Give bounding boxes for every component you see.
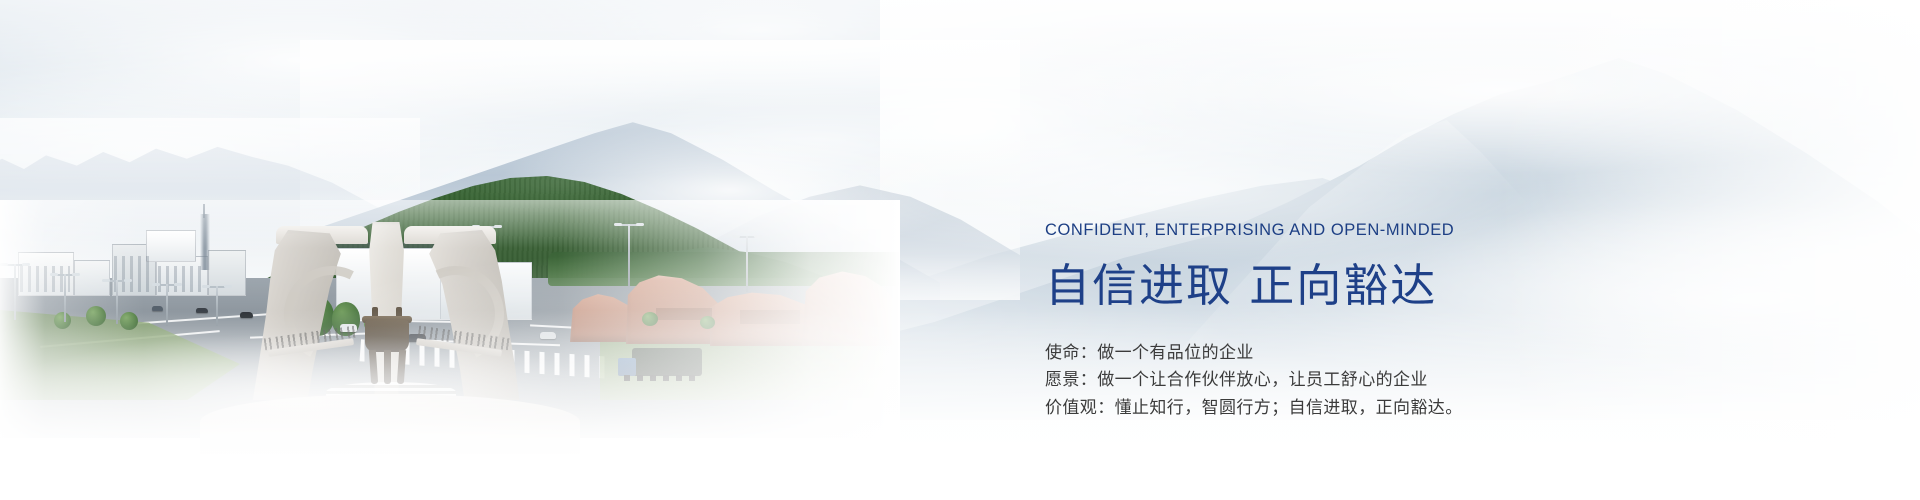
lamp-post xyxy=(64,274,66,322)
shrub xyxy=(642,312,658,326)
building-windows xyxy=(158,266,204,292)
lamp-head xyxy=(224,285,232,288)
lamp-head xyxy=(102,279,110,282)
hero-banner: CONFIDENT, ENTERPRISING AND OPEN-MINDED … xyxy=(0,0,1920,500)
vehicle xyxy=(540,332,556,339)
ding-leg xyxy=(397,350,406,384)
rock-formation xyxy=(802,270,898,346)
ding-leg xyxy=(369,350,378,384)
shrub xyxy=(120,312,138,330)
lamp-head xyxy=(50,273,58,276)
shrub xyxy=(54,312,71,329)
statement-values: 价值观：懂止知行，智圆行方；自信进取，正向豁达。 xyxy=(1045,395,1805,423)
truck-wheels xyxy=(624,375,698,381)
shrub xyxy=(700,316,715,329)
lamp-head xyxy=(202,285,210,288)
vehicle xyxy=(152,306,163,311)
city-building xyxy=(74,260,110,296)
bronze-ding-vessel xyxy=(362,312,412,390)
stone-arch-monument xyxy=(240,222,530,422)
truck-cab xyxy=(618,358,636,376)
lamp-head xyxy=(72,273,80,276)
monument-plaza-base xyxy=(200,394,580,454)
statement-vision: 愿景：做一个让合作伙伴放心，让员工舒心的企业 xyxy=(1045,367,1805,395)
shrub xyxy=(86,306,106,326)
truck-cargo-body xyxy=(632,348,702,376)
lamp-head xyxy=(124,279,132,282)
banner-headline: 自信进取 正向豁达 xyxy=(1045,259,1805,312)
lamp-head xyxy=(614,223,622,226)
building-windows xyxy=(20,266,70,292)
lamp-head xyxy=(754,235,762,238)
transmission-tower xyxy=(200,214,210,270)
lamp-head xyxy=(636,223,644,226)
ding-bowl xyxy=(365,320,409,352)
lamp-post xyxy=(166,284,168,326)
lamp-head xyxy=(174,283,182,286)
vehicle xyxy=(196,308,208,313)
banner-statements: 使命：做一个有品位的企业 愿景：做一个让合作伙伴放心，让员工舒心的企业 价值观：… xyxy=(1045,340,1805,423)
city-photograph xyxy=(0,200,900,500)
banner-text-block: CONFIDENT, ENTERPRISING AND OPEN-MINDED … xyxy=(1045,222,1805,423)
building-windows xyxy=(114,256,152,292)
lamp-post xyxy=(14,264,16,320)
lamp-post xyxy=(628,224,630,286)
ding-leg xyxy=(384,350,391,384)
statement-mission: 使命：做一个有品位的企业 xyxy=(1045,340,1805,368)
city-building xyxy=(146,230,196,262)
rock-shadow xyxy=(740,310,800,324)
lamp-head xyxy=(0,263,8,266)
lamp-post xyxy=(746,236,748,292)
lamp-head xyxy=(732,235,740,238)
lamp-head xyxy=(152,283,160,286)
lamp-post xyxy=(116,280,118,324)
lamp-post xyxy=(216,286,218,326)
terracotta-rock-garden xyxy=(560,260,900,350)
banner-eyebrow-english: CONFIDENT, ENTERPRISING AND OPEN-MINDED xyxy=(1045,222,1805,239)
lamp-head xyxy=(22,263,30,266)
cargo-truck xyxy=(618,348,702,386)
